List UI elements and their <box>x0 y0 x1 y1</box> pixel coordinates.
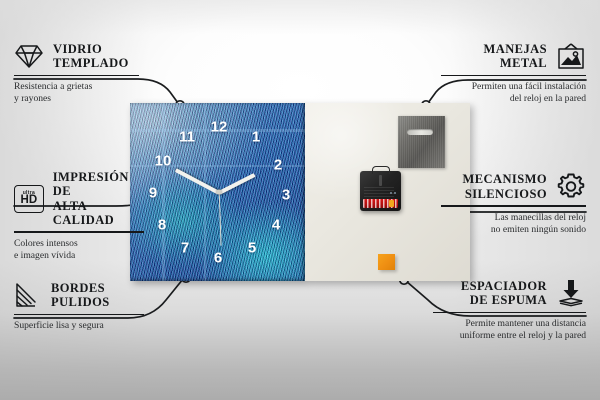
mechanism-shaft <box>379 175 382 186</box>
callout-header: VIDRIO TEMPLADO <box>14 42 139 71</box>
callout-title: MECANISMO SILENCIOSO <box>463 172 548 201</box>
ultra-hd-icon: ultra HD <box>14 185 44 213</box>
ultra-hd-icon-large-text: HD <box>20 195 37 207</box>
callout-header: MECANISMO SILENCIOSO <box>441 172 586 201</box>
arrow-down-stack-icon <box>556 279 586 307</box>
callout-rule <box>14 75 139 77</box>
mechanism-hanger-loop <box>372 166 390 174</box>
diamond-icon <box>14 43 44 69</box>
callout-title: MANEJAS METAL <box>484 42 547 71</box>
callout-header: MANEJAS METAL <box>441 42 586 71</box>
callout-title: ESPACIADOR DE ESPUMA <box>461 279 547 308</box>
callout-subtitle: Superficie lisa y segura <box>14 320 144 332</box>
metal-hanger-plate <box>398 116 445 168</box>
callout-polished-edges: BORDES PULIDOS Superficie lisa y segura <box>14 281 144 332</box>
callout-subtitle: Colores intensos e imagen vívida <box>14 238 144 262</box>
hanger-grain <box>398 116 445 168</box>
polished-edges-icon <box>14 282 42 308</box>
battery-label <box>363 199 398 208</box>
callout-title: VIDRIO TEMPLADO <box>53 42 129 71</box>
hanger-slot <box>407 129 433 135</box>
clock-front-face: 12 1 2 3 4 5 6 7 8 9 10 11 <box>130 103 305 281</box>
callout-hd-print: ultra HD IMPRESIÓN DE ALTA CALIDAD Color… <box>14 170 144 262</box>
infographic-canvas: 12 1 2 3 4 5 6 7 8 9 10 11 <box>0 0 600 400</box>
foam-spacer-square <box>378 254 395 270</box>
callout-foam-spacer: ESPACIADOR DE ESPUMA Permite mantener un… <box>433 279 586 342</box>
clock-edge-shadow <box>130 103 305 281</box>
callout-tempered-glass: VIDRIO TEMPLADO Resistencia a grietas y … <box>14 42 139 105</box>
wall-frame-icon <box>556 43 586 70</box>
callout-rule <box>441 205 586 207</box>
mechanism-marking-dot <box>390 192 392 194</box>
battery-terminal <box>389 200 394 207</box>
gear-icon <box>556 172 586 201</box>
callout-title: IMPRESIÓN DE ALTA CALIDAD <box>53 170 144 227</box>
callout-silent-mechanism: MECANISMO SILENCIOSO Las manecillas del … <box>441 172 586 236</box>
mechanism-marking-dot <box>394 192 396 194</box>
callout-metal-handles: MANEJAS METAL Permiten una fácil instala… <box>441 42 586 105</box>
callout-rule <box>14 231 144 233</box>
callout-subtitle: Las manecillas del reloj no emiten ningú… <box>441 212 586 236</box>
callout-subtitle: Permite mantener una distancia uniforme … <box>433 318 586 342</box>
product-image: 12 1 2 3 4 5 6 7 8 9 10 11 <box>130 103 470 281</box>
callout-rule <box>433 312 586 314</box>
callout-header: ESPACIADOR DE ESPUMA <box>433 279 586 308</box>
callout-title: BORDES PULIDOS <box>51 281 110 310</box>
callout-rule <box>14 314 144 316</box>
callout-subtitle: Permiten una fácil instalación del reloj… <box>441 81 586 105</box>
callout-rule <box>441 75 586 77</box>
clock-mechanism-box <box>360 171 401 211</box>
callout-subtitle: Resistencia a grietas y rayones <box>14 81 139 105</box>
callout-header: BORDES PULIDOS <box>14 281 144 310</box>
callout-header: ultra HD IMPRESIÓN DE ALTA CALIDAD <box>14 170 144 227</box>
